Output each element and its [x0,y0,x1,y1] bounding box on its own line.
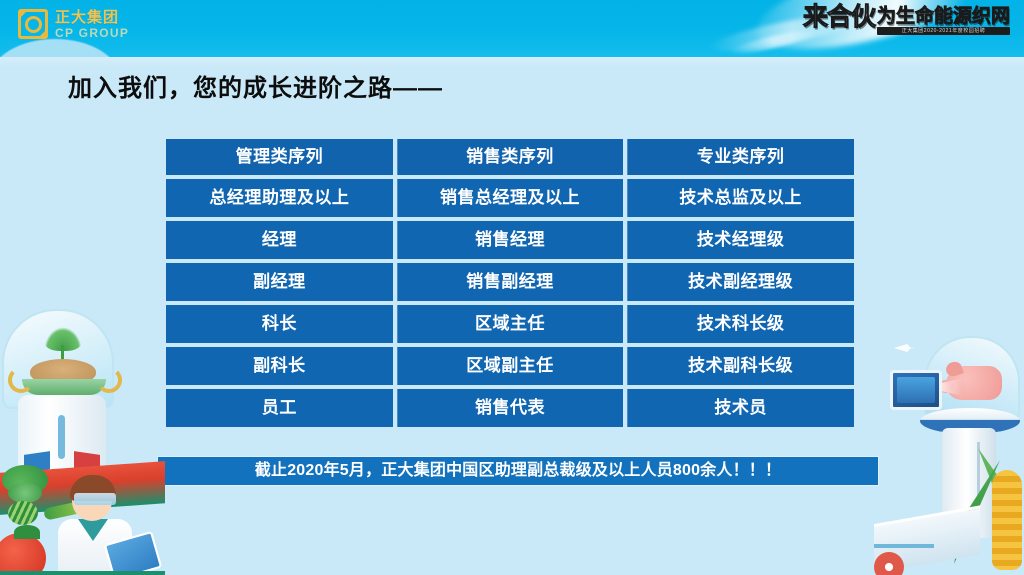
page-title: 加入我们，您的成长进阶之路—— [68,68,443,103]
ground-strip [0,571,165,575]
watermelon-icon [8,501,38,525]
table-header-cell: 专业类序列 [627,139,854,175]
tower-slot-icon [58,415,65,459]
cp-group-logo: 正大集团 CP GROUP [18,9,129,39]
airplane-icon [894,344,916,352]
recruitment-slogan-primary: 来合伙 [803,4,875,30]
table-row: 总经理助理及以上 销售总经理及以上 技术总监及以上 [166,179,854,217]
smart-farm-illustration [874,320,1024,575]
footer-highlight-banner: 截止2020年5月，正大集团中国区助理副总裁级及以上人员800余人！！！ [158,457,878,485]
logo-chinese-name: 正大集团 [55,10,129,25]
table-row: 经理 销售经理 技术经理级 [166,221,854,259]
table-header-cell: 管理类序列 [166,139,393,175]
campus-recruitment-logo: 来合伙 为生命能源织网 正大集团2020-2021年度校园招聘 [803,4,1010,35]
table-cell: 销售总经理及以上 [397,179,624,217]
recruitment-subtitle: 正大集团2020-2021年度校园招聘 [877,27,1010,35]
scanner-device-icon [890,370,942,410]
table-row: 科长 区域主任 技术科长级 [166,305,854,343]
table-cell: 总经理助理及以上 [166,179,393,217]
slide-canvas: 正大集团 CP GROUP 来合伙 为生命能源织网 正大集团2020-2021年… [0,0,1024,575]
vegetable-icon [8,483,42,503]
table-cell: 技术总监及以上 [627,179,854,217]
table-cell: 销售经理 [397,221,624,259]
table-cell: 区域副主任 [397,347,624,385]
table-cell: 技术科长级 [627,305,854,343]
tractor-wheel-icon [874,552,904,575]
table-cell: 副经理 [166,263,393,301]
table-cell: 副科长 [166,347,393,385]
scientist-greenhouse-illustration [0,275,165,575]
table-cell: 经理 [166,221,393,259]
table-cell: 员工 [166,389,393,427]
table-row: 副科长 区域副主任 技术副科长级 [166,347,854,385]
banner-underline-band [0,57,1024,67]
vr-goggles-icon [74,493,116,505]
robotic-arm-icon [8,367,34,393]
grain-tray-icon [22,379,106,395]
table-cell: 销售副经理 [397,263,624,301]
table-cell: 科长 [166,305,393,343]
table-header-row: 管理类序列 销售类序列 专业类序列 [166,139,854,175]
logo-english-name: CP GROUP [55,27,129,39]
table-header-cell: 销售类序列 [397,139,624,175]
table-cell: 技术员 [627,389,854,427]
career-ladder-table: 管理类序列 销售类序列 专业类序列 总经理助理及以上 销售总经理及以上 技术总监… [166,139,854,427]
corn-cob-icon [992,470,1022,570]
table-row: 员工 销售代表 技术员 [166,389,854,427]
cp-group-logo-text: 正大集团 CP GROUP [55,10,129,39]
recruitment-slogan-group: 为生命能源织网 正大集团2020-2021年度校园招聘 [877,6,1010,35]
tomato-leaf-icon [14,525,40,539]
table-cell: 区域主任 [397,305,624,343]
table-cell: 技术经理级 [627,221,854,259]
rail-icon [874,544,934,548]
banner-corner-curve [0,39,120,57]
logo-ring-shape [25,16,42,33]
recruitment-slogan-secondary: 为生命能源织网 [877,6,1010,26]
table-cell: 销售代表 [397,389,624,427]
robotic-arm-icon [96,367,122,393]
table-cell: 技术副科长级 [627,347,854,385]
cp-group-square-logo-icon [18,9,48,39]
scanner-screen-icon [897,377,935,403]
table-row: 副经理 销售副经理 技术副经理级 [166,263,854,301]
tomato-icon [0,533,46,575]
table-cell: 技术副经理级 [627,263,854,301]
